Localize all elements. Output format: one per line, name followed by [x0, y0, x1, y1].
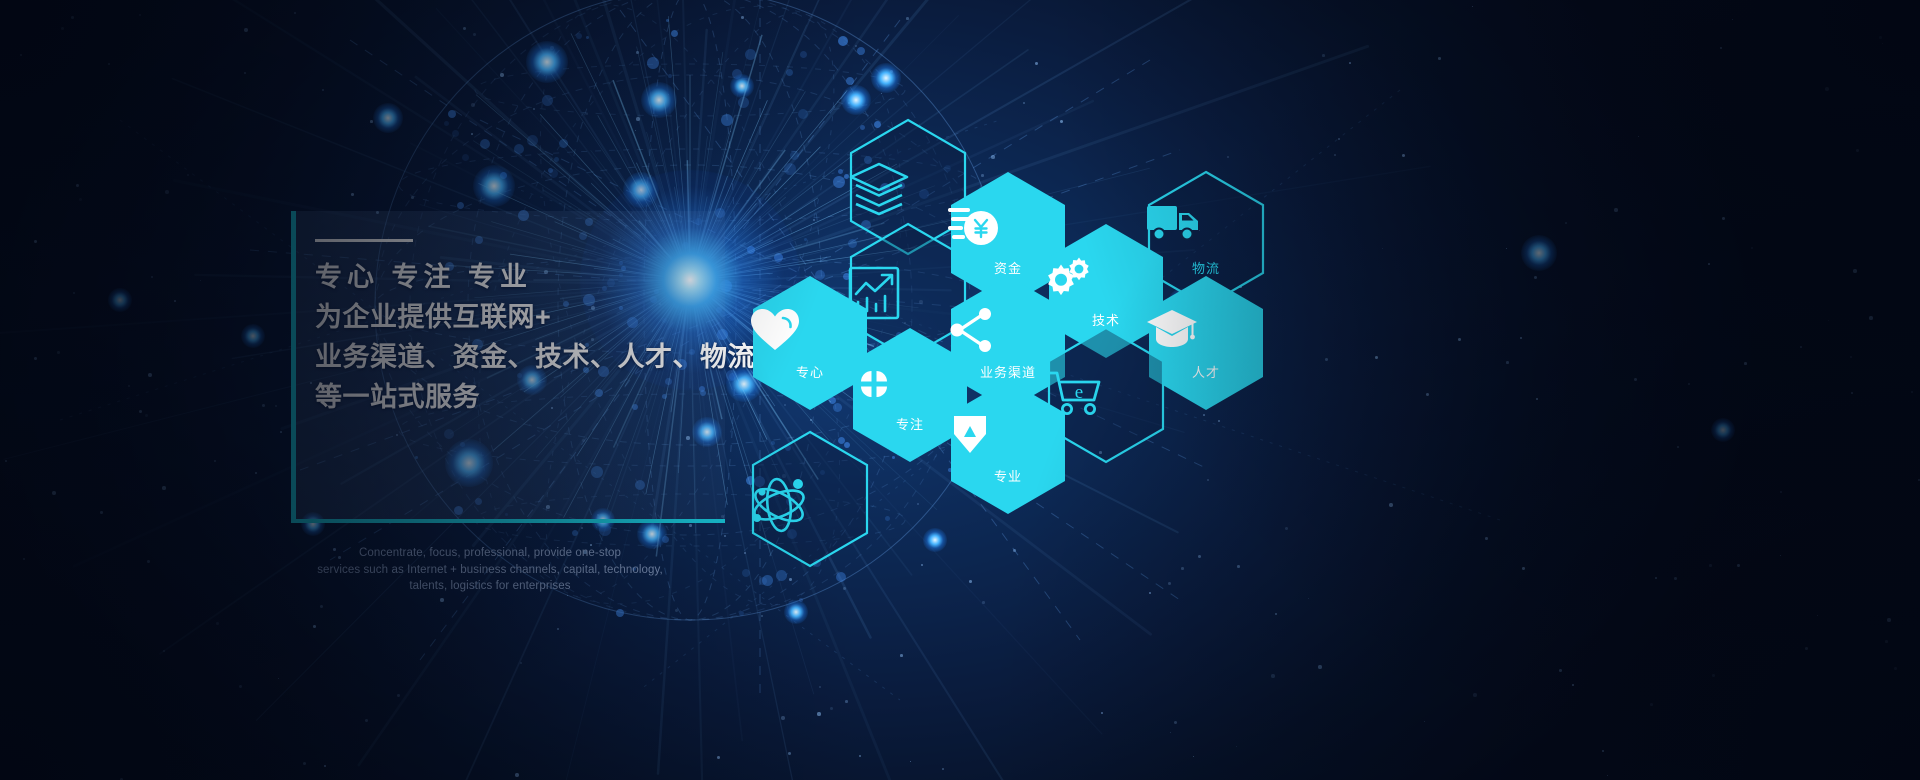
svg-text:e: e	[1075, 382, 1083, 403]
diamond-icon	[948, 412, 992, 456]
hexagon-pro[interactable]: 专业	[948, 378, 1068, 516]
yen-coin-icon	[948, 204, 1000, 250]
heart-icon	[750, 308, 800, 352]
layers-icon	[848, 162, 910, 216]
clover-icon	[850, 360, 898, 408]
hexagon-atom[interactable]	[750, 430, 870, 568]
atom-icon	[750, 474, 812, 528]
hexagon-grid: 资金 物流	[0, 0, 1920, 780]
hero-banner: 专心 专注 专业 为企业提供互联网+ 业务渠道、资金、技术、人才、物流 等一站式…	[0, 0, 1920, 780]
